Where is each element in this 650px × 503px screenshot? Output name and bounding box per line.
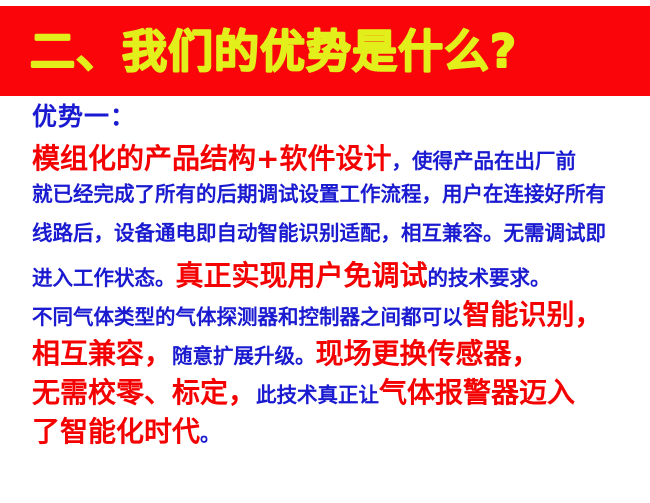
text-line: 模组化的产品结构+软件设计，使得产品在出厂前 — [0, 145, 650, 184]
text-run: 此技术真正让 — [256, 385, 379, 406]
text-line: 线路后，设备通电即自动智能识别适配，相互兼容。无需调试即 — [0, 223, 650, 262]
text-run: 无需校零、标定， — [32, 379, 256, 407]
text-line: 不同气体类型的气体探测器和控制器之间都可以智能识别， — [0, 301, 650, 340]
page-title: 二、我们的优势是什么? — [0, 29, 517, 74]
slide-canvas: 二、我们的优势是什么? 优势一：模组化的产品结构+软件设计，使得产品在出厂前就已… — [0, 0, 650, 503]
text-run: 气体报警器迈入 — [379, 379, 575, 407]
body-content: 优势一：模组化的产品结构+软件设计，使得产品在出厂前就已经完成了所有的后期调试设… — [0, 104, 650, 457]
title-banner: 二、我们的优势是什么? — [0, 6, 650, 96]
text-run: 线路后，设备通电即自动智能识别适配，相互兼容。无需调试即 — [32, 223, 606, 244]
text-run: 随意扩展升级。 — [172, 346, 316, 367]
text-line: 优势一： — [0, 104, 650, 145]
text-line: 就已经完成了所有的后期调试设置工作流程，用户在连接好所有 — [0, 184, 650, 223]
text-run: 进入工作状态。 — [32, 268, 176, 289]
text-run: ，使得产品在出厂前 — [391, 151, 576, 172]
text-line: 了智能化时代。 — [0, 418, 650, 457]
text-run: 模组化的产品结构+软件设计 — [32, 145, 391, 173]
text-run: 的技术要求。 — [428, 268, 551, 289]
text-run: 智能识别， — [463, 301, 603, 329]
section-heading: 优势一： — [32, 104, 136, 129]
text-line: 相互兼容，随意扩展升级。现场更换传感器， — [0, 340, 650, 379]
text-line: 进入工作状态。真正实现用户免调试的技术要求。 — [0, 262, 650, 301]
text-run: 相互兼容， — [32, 340, 172, 368]
text-line: 无需校零、标定，此技术真正让气体报警器迈入 — [0, 379, 650, 418]
text-run: 不同气体类型的气体探测器和控制器之间都可以 — [32, 307, 463, 328]
text-run: 了智能化时代 — [32, 418, 200, 446]
text-run: 就已经完成了所有的后期调试设置工作流程，用户在连接好所有 — [32, 184, 606, 205]
text-run: 真正实现用户免调试 — [176, 262, 428, 290]
text-run: 。 — [200, 424, 221, 445]
text-run: 现场更换传感器， — [316, 340, 540, 368]
